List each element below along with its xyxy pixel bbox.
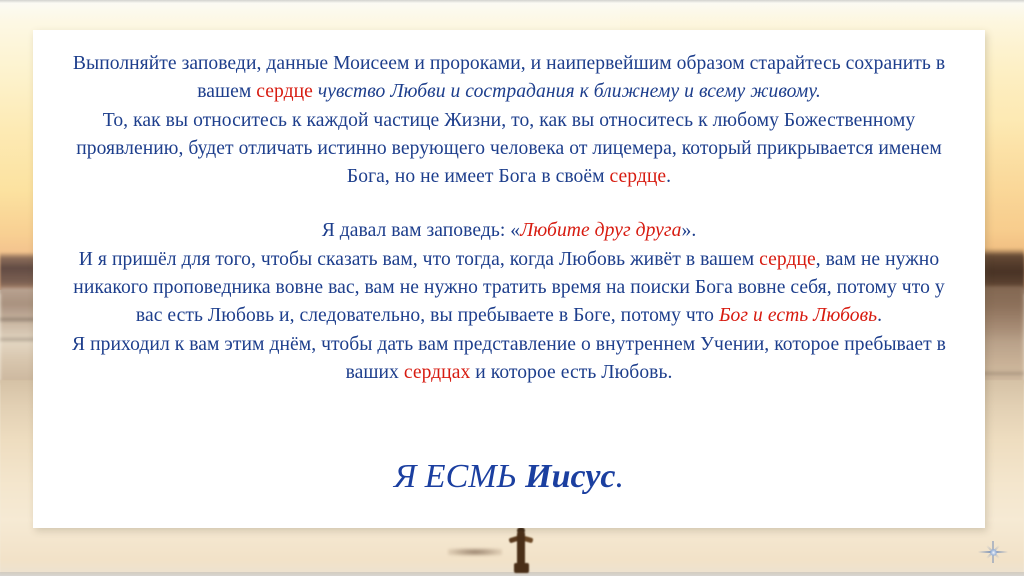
paragraph-3-text-b: ». [681,220,696,241]
paragraph-2-text-a: То, как вы относитесь к каждой частице Ж… [76,110,942,188]
text-card: Выполняйте заповеди, данные Моисеем и пр… [33,30,985,528]
paragraph-2-highlight-serdce: сердце [610,166,667,187]
background-top-edge [0,0,1024,3]
sparkle-core [990,549,997,556]
paragraph-5-highlight-serdcah: сердцах [404,362,470,383]
paragraph-spacer [71,191,947,217]
message-body: Выполняйте заповеди, данные Моисеем и пр… [71,50,947,387]
signature-name: Иисус [525,458,615,495]
signature-prefix: Я ЕСМЬ [394,458,525,495]
paragraph-4-highlight-serdce: сердце [759,249,816,270]
paragraph-4-quote-god-is-love: Бог и есть Любовь [719,305,877,326]
silhouette-base [514,563,529,573]
sparkle-star-icon [978,537,1008,567]
paragraph-1-highlight-serdce: сердце [256,81,313,102]
paragraph-4: И я пришёл для того, чтобы сказать вам, … [71,246,947,331]
slide: Выполняйте заповеди, данные Моисеем и пр… [0,0,1024,576]
silhouette-reflection [448,548,502,556]
paragraph-2-text-b: . [666,166,671,187]
paragraph-1: Выполняйте заповеди, данные Моисеем и пр… [71,50,947,107]
paragraph-3-text-a: Я давал вам заповедь: « [322,220,520,241]
person-silhouette [508,527,534,573]
paragraph-4-text-a: И я пришёл для того, чтобы сказать вам, … [79,249,759,270]
paragraph-1-text-b: чувство Любви и сострадания к ближнему и… [313,81,821,102]
paragraph-5: Я приходил к вам этим днём, чтобы дать в… [71,331,947,388]
paragraph-5-text-b: и которое есть Любовь. [470,362,672,383]
silhouette-body [517,531,525,565]
paragraph-2: То, как вы относитесь к каждой частице Ж… [71,107,947,192]
paragraph-3: Я давал вам заповедь: «Любите друг друга… [71,217,947,245]
signature: Я ЕСМЬ Иисус. [33,455,985,499]
paragraph-3-quote-love-one-another: Любите друг друга [520,220,681,241]
paragraph-4-text-c: . [877,305,882,326]
signature-suffix: . [616,458,625,495]
